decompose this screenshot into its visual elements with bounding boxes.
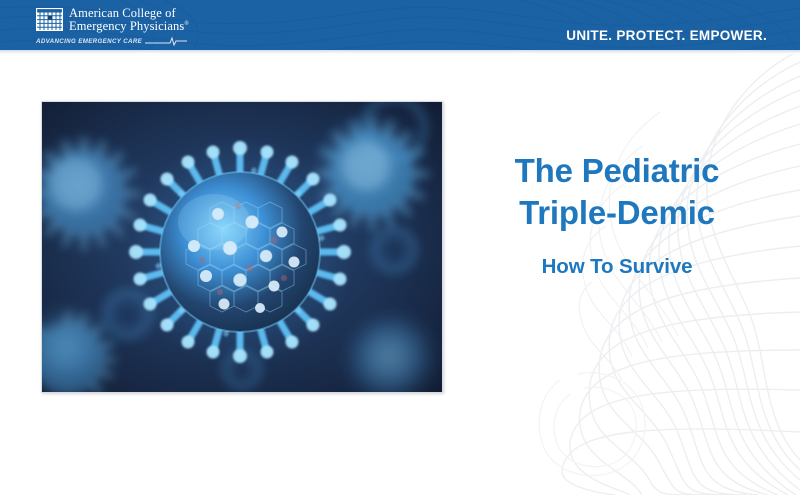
ekg-waveform-icon <box>145 36 187 46</box>
coronavirus-image <box>41 101 443 393</box>
page-subtitle: How To Survive <box>452 255 782 280</box>
title-line-2: Triple-Demic <box>452 192 782 234</box>
title-block: The Pediatric Triple-Demic How To Surviv… <box>452 150 782 280</box>
header-divider <box>0 50 800 54</box>
logo-tagline: ADVANCING EMERGENCY CARE <box>36 36 166 46</box>
title-line-1: The Pediatric <box>452 150 782 192</box>
page-title: The Pediatric Triple-Demic <box>452 150 782 233</box>
logo-line-2: Emergency Physicians® <box>69 20 189 33</box>
brand-slogan: UNITE. PROTECT. EMPOWER. <box>566 28 767 43</box>
presentation-slide: American College of Emergency Physicians… <box>0 0 800 495</box>
acep-grid-mark-icon <box>36 8 63 31</box>
logo-tagline-text: ADVANCING EMERGENCY CARE <box>36 38 142 45</box>
acep-logo: American College of Emergency Physicians… <box>36 7 189 46</box>
registered-mark: ® <box>184 21 189 27</box>
